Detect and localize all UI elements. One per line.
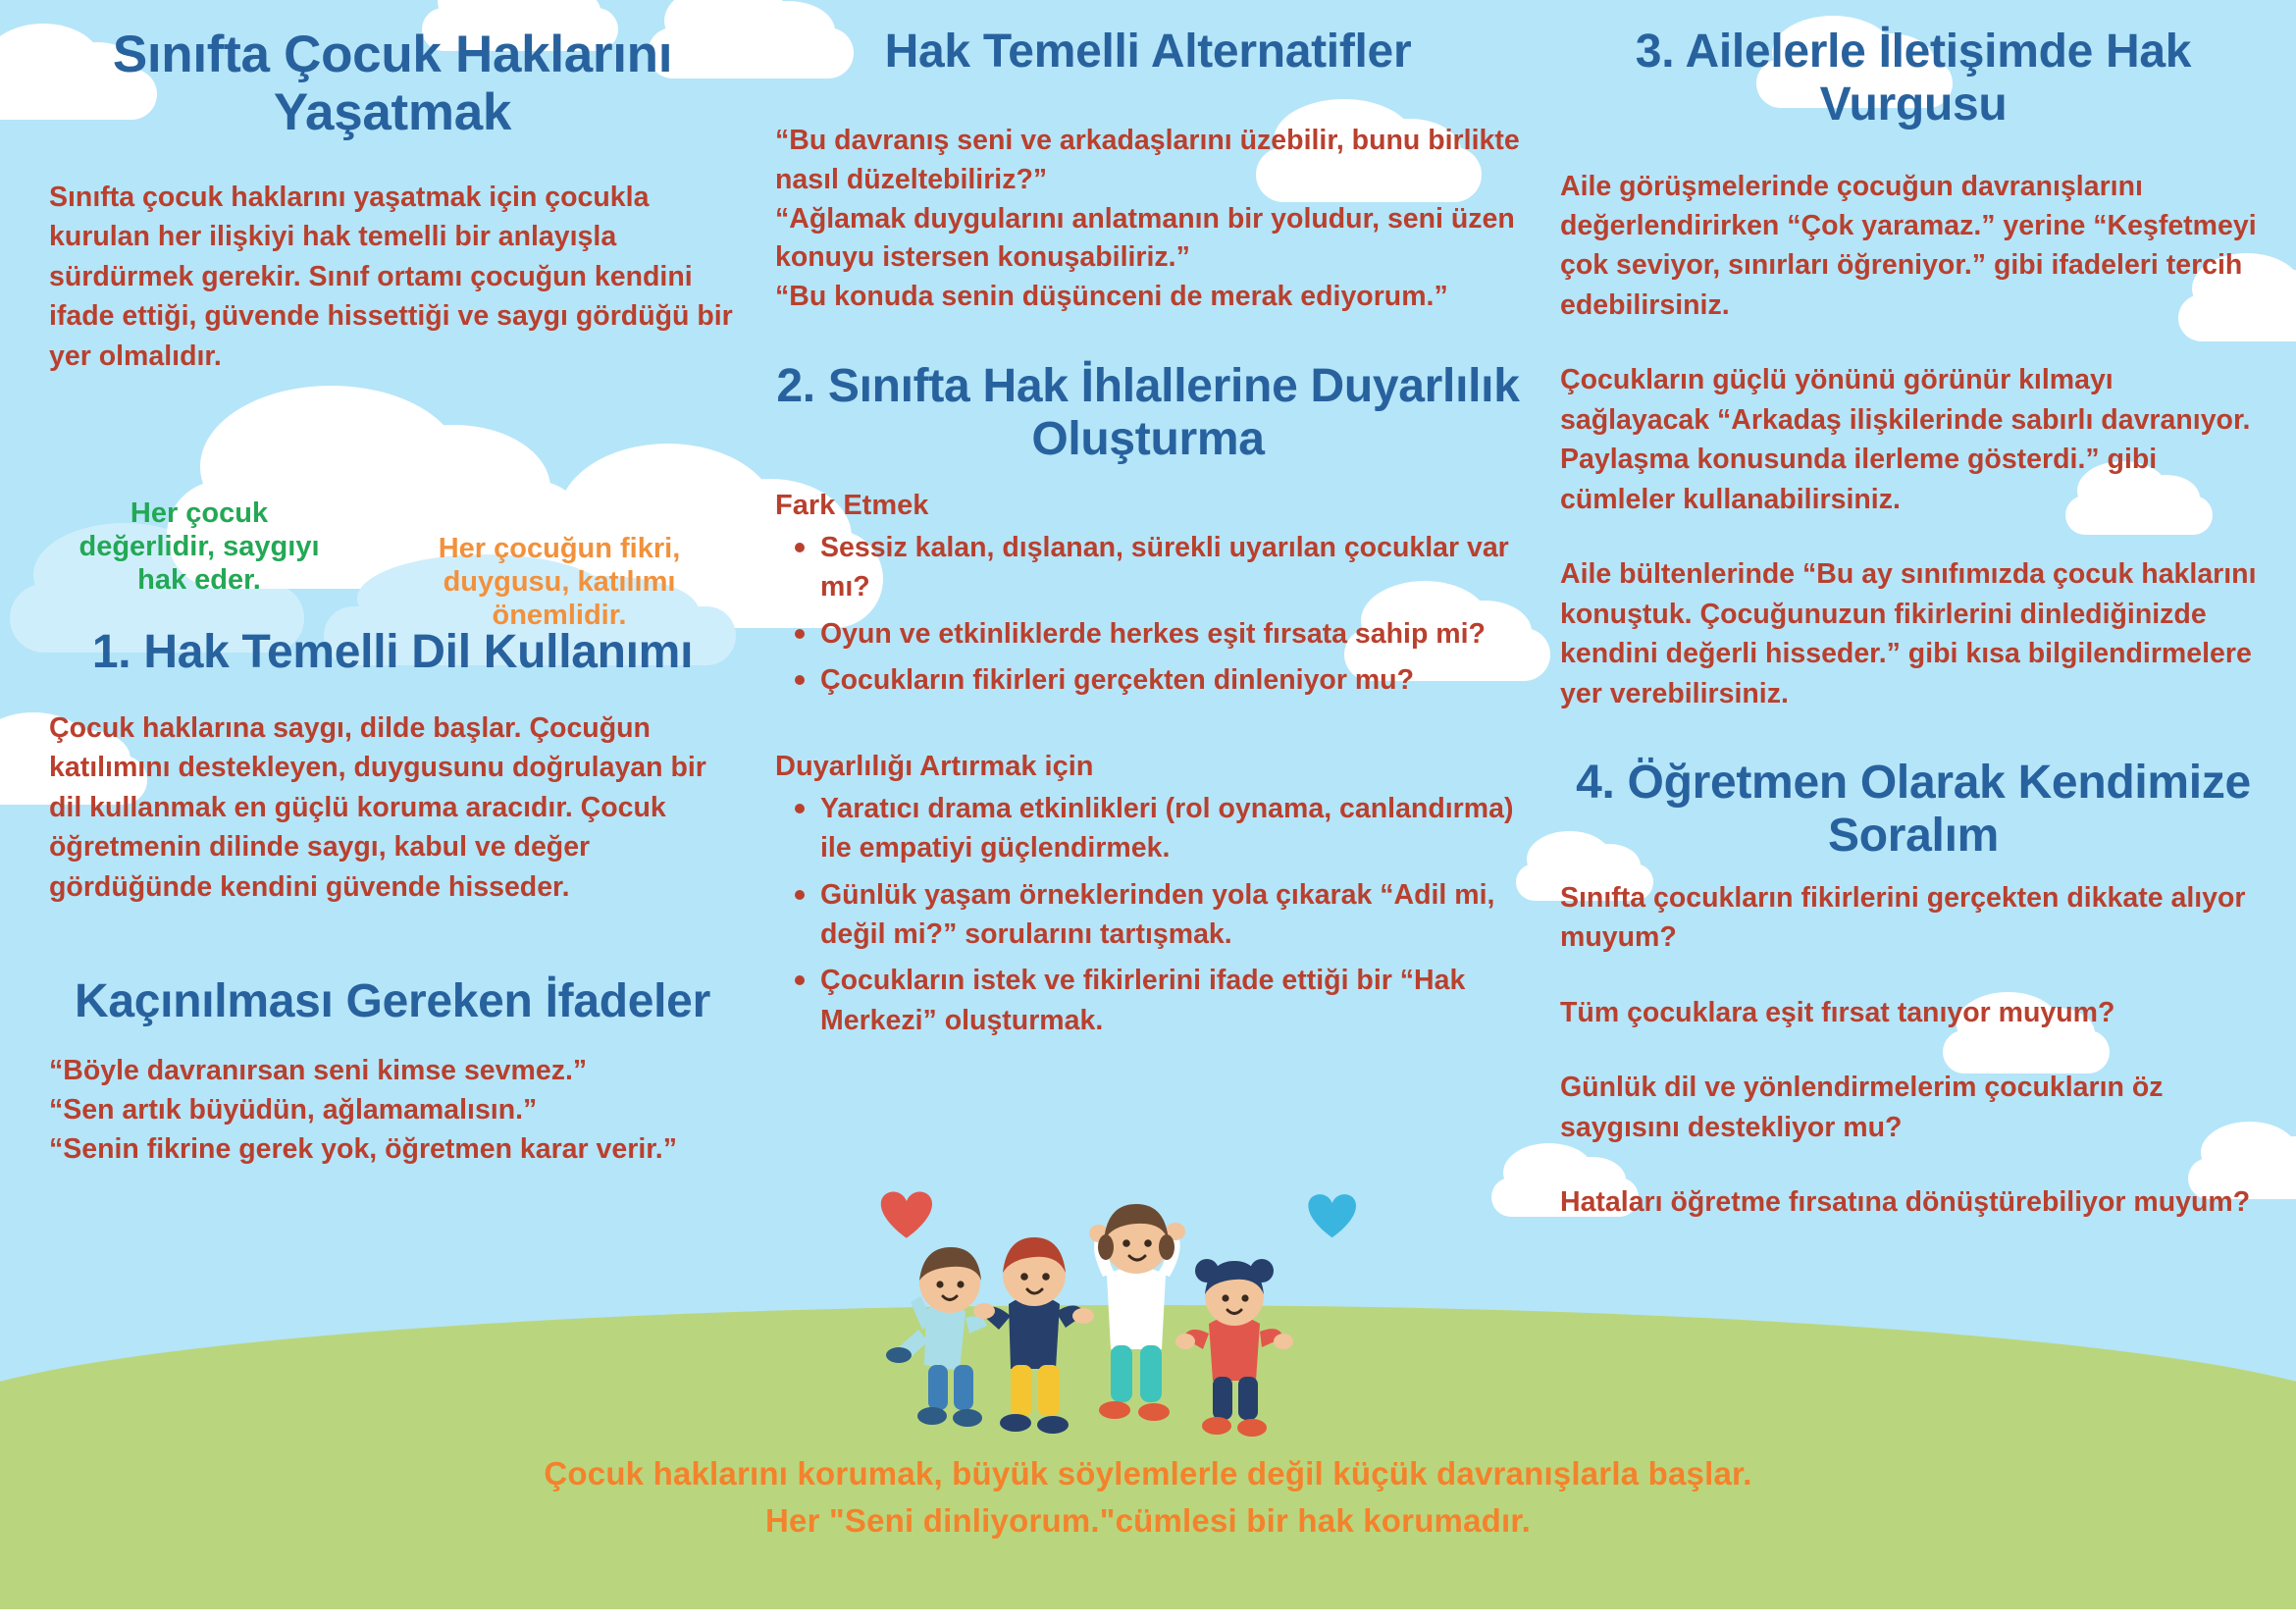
avoid-quote-2: “Sen artık büyüdün, ağlamamalısın.”	[49, 1091, 736, 1130]
list-item: Yaratıcı drama etkinlikleri (rol oynama,…	[820, 789, 1521, 868]
child-figure-3	[1089, 1204, 1185, 1421]
intro-paragraph: Sınıfta çocuk haklarını yaşatmak için ço…	[49, 178, 736, 376]
right-column: 3. Ailelerle İletişimde Hak Vurgusu Aile…	[1560, 26, 2267, 1222]
footer-line-1: Çocuk haklarını korumak, büyük söylemler…	[0, 1450, 2296, 1497]
child-figure-4	[1175, 1259, 1293, 1437]
section-1-body: Çocuk haklarına saygı, dilde başlar. Çoc…	[49, 708, 736, 907]
footer-banner: Çocuk haklarını korumak, büyük söylemler…	[0, 1450, 2296, 1545]
self-question-4: Hataları öğretme fırsatına dönüştürebili…	[1560, 1182, 2267, 1222]
heart-shape-red	[881, 1191, 932, 1237]
section-3-paragraph-3: Aile bültenlerinde “Bu ay sınıfımızda ço…	[1560, 554, 2267, 713]
child-figure-1	[886, 1247, 987, 1427]
increase-awareness-label: Duyarlılığı Artırmak için	[775, 751, 1521, 783]
alternative-quote-1: “Bu davranış seni ve arkadaşlarını üzebi…	[775, 122, 1521, 200]
list-item: Oyun ve etkinliklerde herkes eşit fırsat…	[820, 614, 1521, 654]
list-item: Sessiz kalan, dışlanan, sürekli uyarılan…	[820, 528, 1521, 607]
list-item: Çocukların istek ve fikirlerini ifade et…	[820, 961, 1521, 1040]
children-illustration	[863, 1173, 1413, 1438]
section-2-heading: 2. Sınıfta Hak İhlallerine Duyarlılık Ol…	[775, 360, 1521, 466]
notice-label: Fark Etmek	[775, 490, 1521, 522]
notice-list: Sessiz kalan, dışlanan, sürekli uyarılan…	[775, 528, 1521, 701]
section-4-heading: 4. Öğretmen Olarak Kendimize Soralım	[1560, 757, 2267, 863]
self-question-1: Sınıfta çocukların fikirlerini gerçekten…	[1560, 878, 2267, 958]
avoid-phrases-heading: Kaçınılması Gereken İfadeler	[49, 975, 736, 1028]
middle-column: Hak Temelli Alternatifler “Bu davranış s…	[775, 26, 1521, 1047]
poster-canvas: Sınıfta Çocuk Haklarını Yaşatmak Sınıfta…	[0, 0, 2296, 1624]
section-1-heading: 1. Hak Temelli Dil Kullanımı	[49, 626, 736, 679]
slogan-green: Her çocuk değerlidir, saygıyı hak eder.	[77, 497, 322, 598]
alternatives-heading: Hak Temelli Alternatifler	[775, 26, 1521, 79]
section-3-paragraph-2: Çocukların güçlü yönünü görünür kılmayı …	[1560, 360, 2267, 519]
list-item: Çocukların fikirleri gerçekten dinleniyo…	[820, 660, 1521, 700]
slogan-orange: Her çocuğun fikri, duygusu, katılımı öne…	[412, 532, 706, 633]
alternative-quote-3: “Bu konuda senin düşünceni de merak ediy…	[775, 278, 1521, 317]
section-3-heading: 3. Ailelerle İletişimde Hak Vurgusu	[1560, 26, 2267, 131]
child-figure-2	[973, 1237, 1094, 1434]
footer-line-2: Her "Seni dinliyorum."cümlesi bir hak ko…	[0, 1497, 2296, 1545]
avoid-quote-3: “Senin fikrine gerek yok, öğretmen karar…	[49, 1130, 736, 1170]
avoid-quote-1: “Böyle davranırsan seni kimse sevmez.”	[49, 1052, 736, 1091]
increase-awareness-list: Yaratıcı drama etkinlikleri (rol oynama,…	[775, 789, 1521, 1041]
alternative-quote-2: “Ağlamak duygularını anlatmanın bir yolu…	[775, 200, 1521, 279]
self-question-2: Tüm çocuklara eşit fırsat tanıyor muyum?	[1560, 993, 2267, 1032]
bottom-white-edge	[0, 1609, 2296, 1624]
heart-shape-blue	[1308, 1194, 1356, 1237]
self-question-3: Günlük dil ve yönlendirmelerim çocukları…	[1560, 1068, 2267, 1147]
page-title: Sınıfta Çocuk Haklarını Yaşatmak	[49, 26, 736, 142]
section-3-paragraph-1: Aile görüşmelerinde çocuğun davranışları…	[1560, 167, 2267, 326]
list-item: Günlük yaşam örneklerinden yola çıkarak …	[820, 875, 1521, 955]
